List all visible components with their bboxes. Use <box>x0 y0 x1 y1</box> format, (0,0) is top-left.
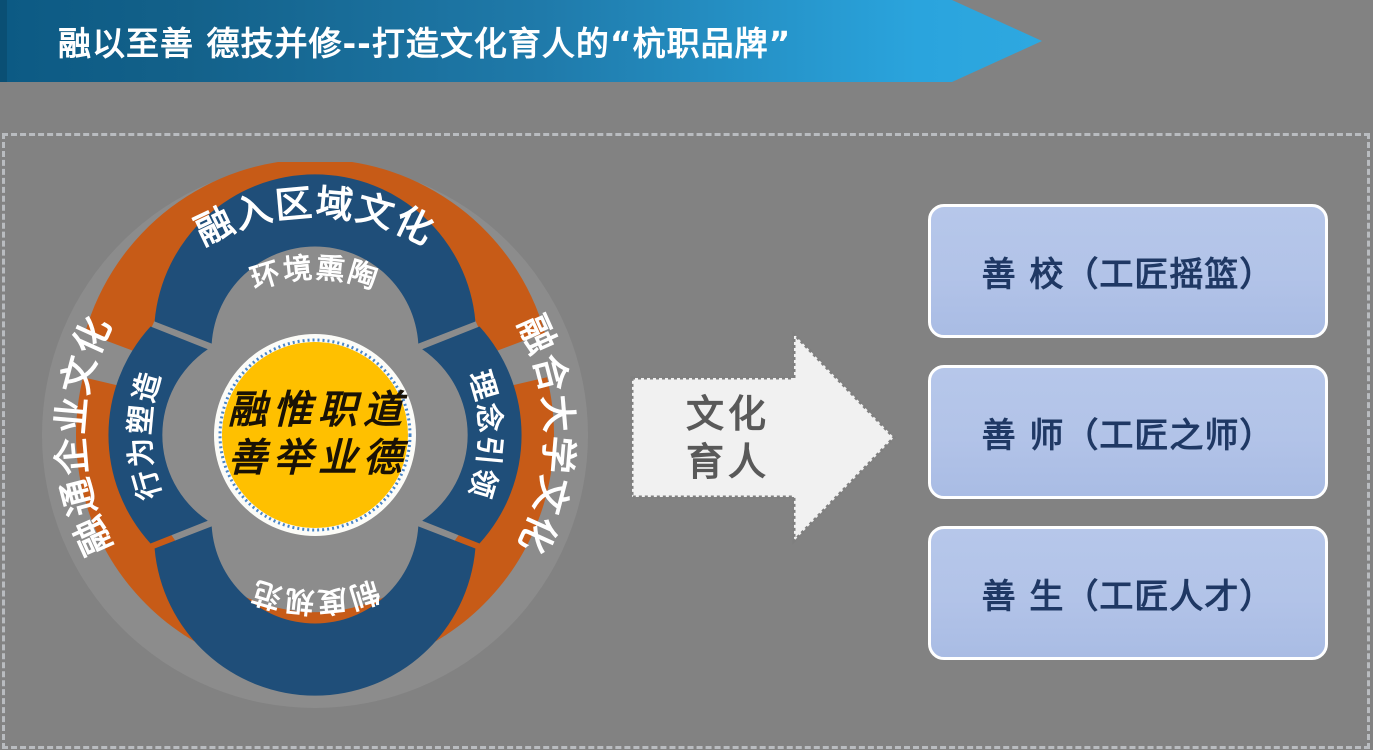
core-gold-disc <box>222 342 408 528</box>
outcome-box-student[interactable]: 善 生（工匠人才） <box>928 526 1328 660</box>
outcome-label: 善 生（工匠人才） <box>982 569 1275 618</box>
outcome-box-teacher[interactable]: 善 师（工匠之师） <box>928 365 1328 499</box>
arrow-shape <box>632 334 894 541</box>
culture-education-arrow: 文化 育人 <box>628 330 898 545</box>
culture-wheel-diagram: 融入区域文化 融合大学文化 融通企业文化 环境熏陶 理念引领 制度规范 <box>42 162 588 708</box>
title-banner: 融以至善 德技并修--打造文化育人的“杭职品牌” <box>0 0 1042 82</box>
slide-canvas: 融以至善 德技并修--打造文化育人的“杭职品牌” <box>0 0 1373 750</box>
outcome-label: 善 校（工匠摇篮） <box>982 247 1275 296</box>
page-title: 融以至善 德技并修--打造文化育人的“杭职品牌” <box>58 17 791 65</box>
outcome-box-school[interactable]: 善 校（工匠摇篮） <box>928 204 1328 338</box>
outcome-box-list: 善 校（工匠摇篮） 善 师（工匠之师） 善 生（工匠人才） <box>928 204 1328 687</box>
outcome-label: 善 师（工匠之师） <box>982 408 1275 457</box>
banner-left-edge <box>0 0 7 82</box>
